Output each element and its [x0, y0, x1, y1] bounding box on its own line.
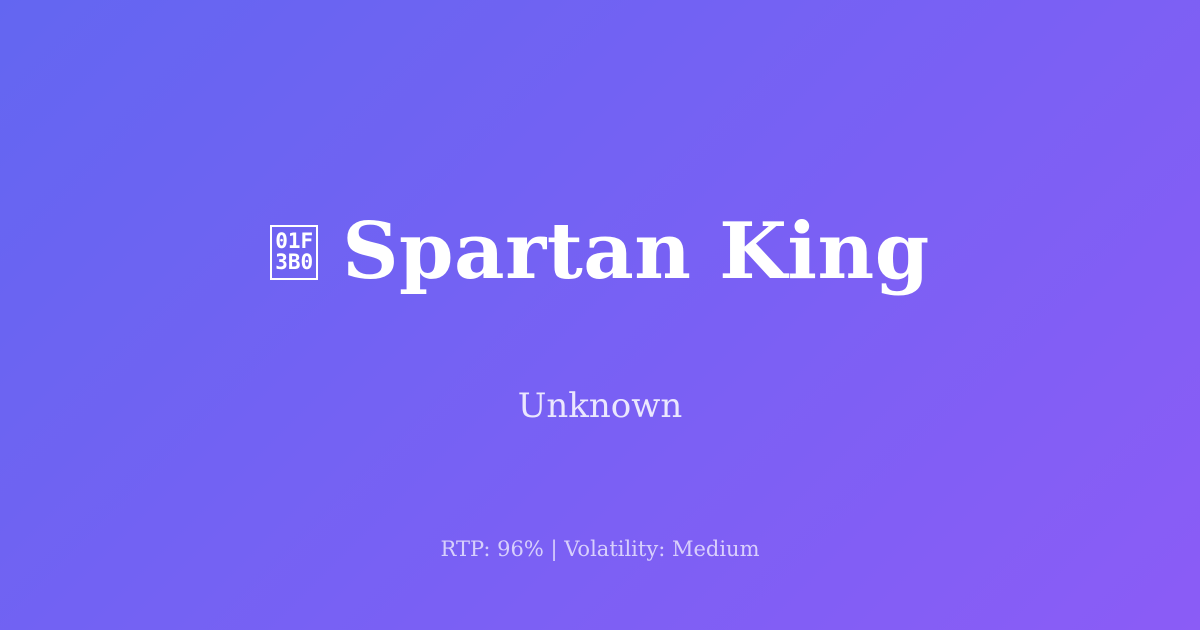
- stats-footer: RTP: 96% | Volatility: Medium: [0, 537, 1200, 562]
- hero-block: 01F 3B0 Spartan King Unknown: [0, 161, 1200, 424]
- tofu-codepoint-low: 3B0: [275, 252, 313, 273]
- tofu-codepoint-high: 01F: [275, 231, 313, 252]
- slot-machine-icon: 01F 3B0: [270, 225, 318, 280]
- page-subtitle: Unknown: [518, 389, 683, 423]
- og-card: 01F 3B0 Spartan King Unknown RTP: 96% | …: [0, 0, 1200, 630]
- title-row: 01F 3B0 Spartan King: [0, 161, 1200, 344]
- page-title: Spartan King: [342, 213, 930, 291]
